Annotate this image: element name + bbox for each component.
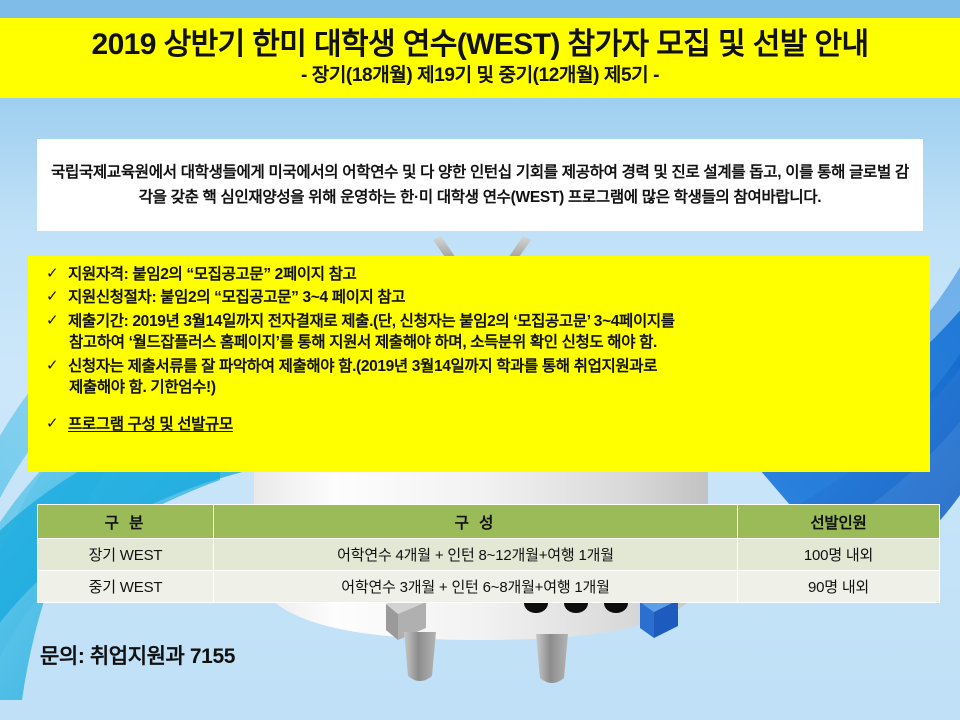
page-title: 2019 상반기 한미 대학생 연수(WEST) 참가자 모집 및 선발 안내 xyxy=(92,29,869,61)
poster-root: 2019 상반기 한미 대학생 연수(WEST) 참가자 모집 및 선발 안내 … xyxy=(0,0,960,720)
cell-composition: 어학연수 4개월 + 인턴 8~12개월+여행 1개월 xyxy=(214,539,738,571)
list-item: ✓ 지원신청절차: 붙임2의 “모집공고문” 3~4 페이지 참고 xyxy=(46,287,914,308)
list-item-line2: 참고하여 ‘월드잡플러스 홈페이지’를 통해 지원서 제출해야 하며, 소득분위… xyxy=(68,332,908,353)
list-item-text: 신청자는 제출서류를 잘 파악하여 제출해야 함.(2019년 3월14일까지 … xyxy=(68,356,914,399)
page-subtitle: - 장기(18개월) 제19기 및 중기(12개월) 제5기 - xyxy=(301,65,659,87)
bullet-box: ✓ 지원자격: 붙임2의 “모집공고문” 2페이지 참고 ✓ 지원신청절차: 붙… xyxy=(28,256,930,472)
list-item-line2: 제출해야 함. 기한엄수!) xyxy=(68,377,908,398)
list-item: ✓ 지원자격: 붙임2의 “모집공고문” 2페이지 참고 xyxy=(46,264,914,285)
title-banner: 2019 상반기 한미 대학생 연수(WEST) 참가자 모집 및 선발 안내 … xyxy=(0,18,960,98)
bullet-list: ✓ 지원자격: 붙임2의 “모집공고문” 2페이지 참고 ✓ 지원신청절차: 붙… xyxy=(28,264,930,436)
list-item: ✓ 제출기간: 2019년 3월14일까지 전자결재로 제출.(단, 신청자는 … xyxy=(46,311,914,354)
check-icon: ✓ xyxy=(46,414,68,435)
cell-composition: 어학연수 3개월 + 인턴 6~8개월+여행 1개월 xyxy=(214,571,738,603)
list-item: ✓ 프로그램 구성 및 선발규모 xyxy=(46,414,914,435)
check-icon: ✓ xyxy=(46,287,68,308)
top-blue-strip xyxy=(0,0,960,18)
table-header-division: 구 분 xyxy=(38,505,214,539)
cell-quota: 100명 내외 xyxy=(738,539,940,571)
cell-division: 장기 WEST xyxy=(38,539,214,571)
program-table-wrap: 구 분 구 성 선발인원 장기 WEST 어학연수 4개월 + 인턴 8~12개… xyxy=(37,504,939,603)
list-item-line1: 신청자는 제출서류를 잘 파악하여 제출해야 함.(2019년 3월14일까지 … xyxy=(68,358,657,375)
check-icon: ✓ xyxy=(46,356,68,377)
cell-quota: 90명 내외 xyxy=(738,571,940,603)
list-item-text: 제출기간: 2019년 3월14일까지 전자결재로 제출.(단, 신청자는 붙임… xyxy=(68,311,914,354)
list-item: ✓ 신청자는 제출서류를 잘 파악하여 제출해야 함.(2019년 3월14일까… xyxy=(46,356,914,399)
program-table: 구 분 구 성 선발인원 장기 WEST 어학연수 4개월 + 인턴 8~12개… xyxy=(37,504,940,603)
check-icon: ✓ xyxy=(46,311,68,332)
intro-box: 국립국제교육원에서 대학생들에게 미국에서의 어학연수 및 다 양한 인턴십 기… xyxy=(37,139,923,231)
table-header-row: 구 분 구 성 선발인원 xyxy=(38,505,940,539)
table-row: 장기 WEST 어학연수 4개월 + 인턴 8~12개월+여행 1개월 100명… xyxy=(38,539,940,571)
list-item-text: 지원자격: 붙임2의 “모집공고문” 2페이지 참고 xyxy=(68,264,914,285)
table-header-quota: 선발인원 xyxy=(738,505,940,539)
list-item-line1: 지원신청절차: 붙임2의 “모집공고문” 3~4 페이지 참고 xyxy=(68,289,405,306)
tv-legs xyxy=(404,632,568,683)
list-item-text: 프로그램 구성 및 선발규모 xyxy=(68,414,914,435)
cell-division: 중기 WEST xyxy=(38,571,214,603)
list-item-text: 지원신청절차: 붙임2의 “모집공고문” 3~4 페이지 참고 xyxy=(68,287,914,308)
contact-info: 문의: 취업지원과 7155 xyxy=(40,640,235,670)
table-row: 중기 WEST 어학연수 3개월 + 인턴 6~8개월+여행 1개월 90명 내… xyxy=(38,571,940,603)
table-header-composition: 구 성 xyxy=(214,505,738,539)
list-item-line1: 프로그램 구성 및 선발규모 xyxy=(68,416,233,433)
list-item-line1: 지원자격: 붙임2의 “모집공고문” 2페이지 참고 xyxy=(68,266,356,283)
list-item-line1: 제출기간: 2019년 3월14일까지 전자결재로 제출.(단, 신청자는 붙임… xyxy=(68,313,675,330)
check-icon: ✓ xyxy=(46,264,68,285)
intro-text: 국립국제교육원에서 대학생들에게 미국에서의 어학연수 및 다 양한 인턴십 기… xyxy=(37,160,923,210)
